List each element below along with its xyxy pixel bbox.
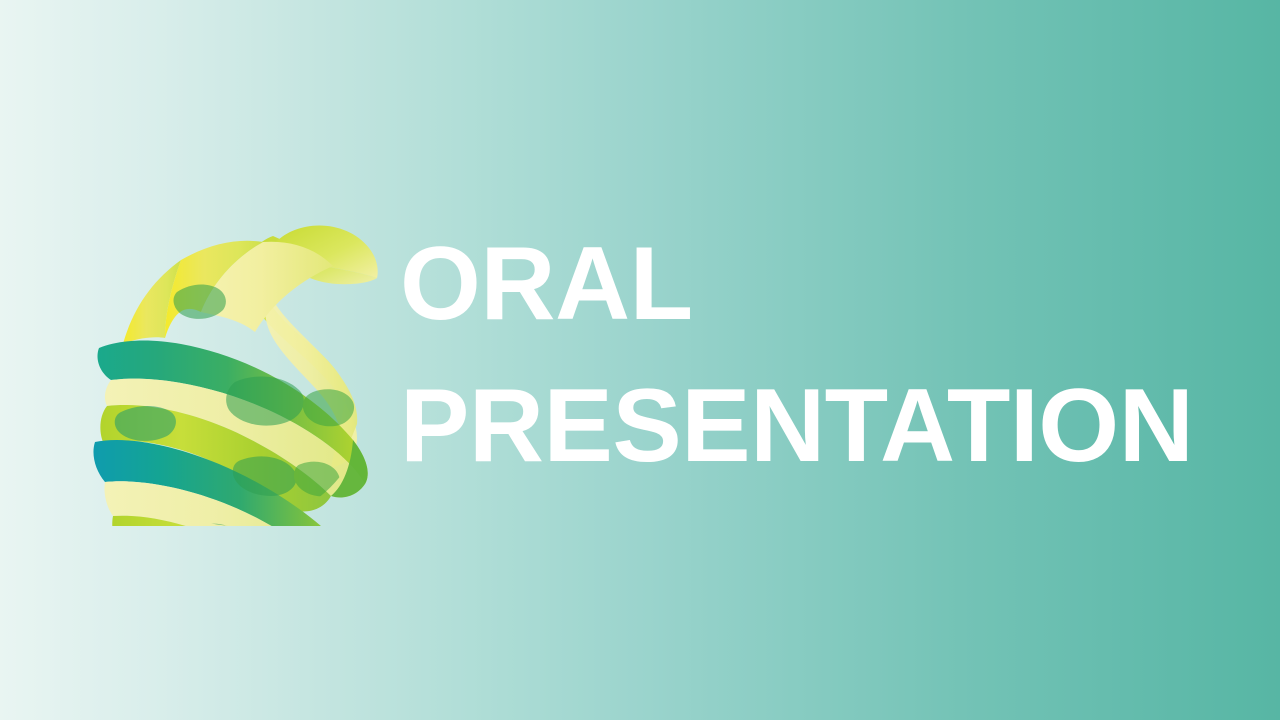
continent-mid-left	[115, 406, 176, 441]
presentation-slide: ORAL PRESENTATION	[0, 0, 1280, 720]
title-line-1: ORAL	[400, 213, 1200, 355]
spiral-ribbon-globe-logo	[85, 196, 395, 526]
continent-north	[174, 285, 226, 319]
title-line-2: PRESENTATION	[400, 355, 1200, 497]
globe-logo-svg	[85, 196, 395, 526]
slide-title: ORAL PRESENTATION	[400, 213, 1200, 497]
